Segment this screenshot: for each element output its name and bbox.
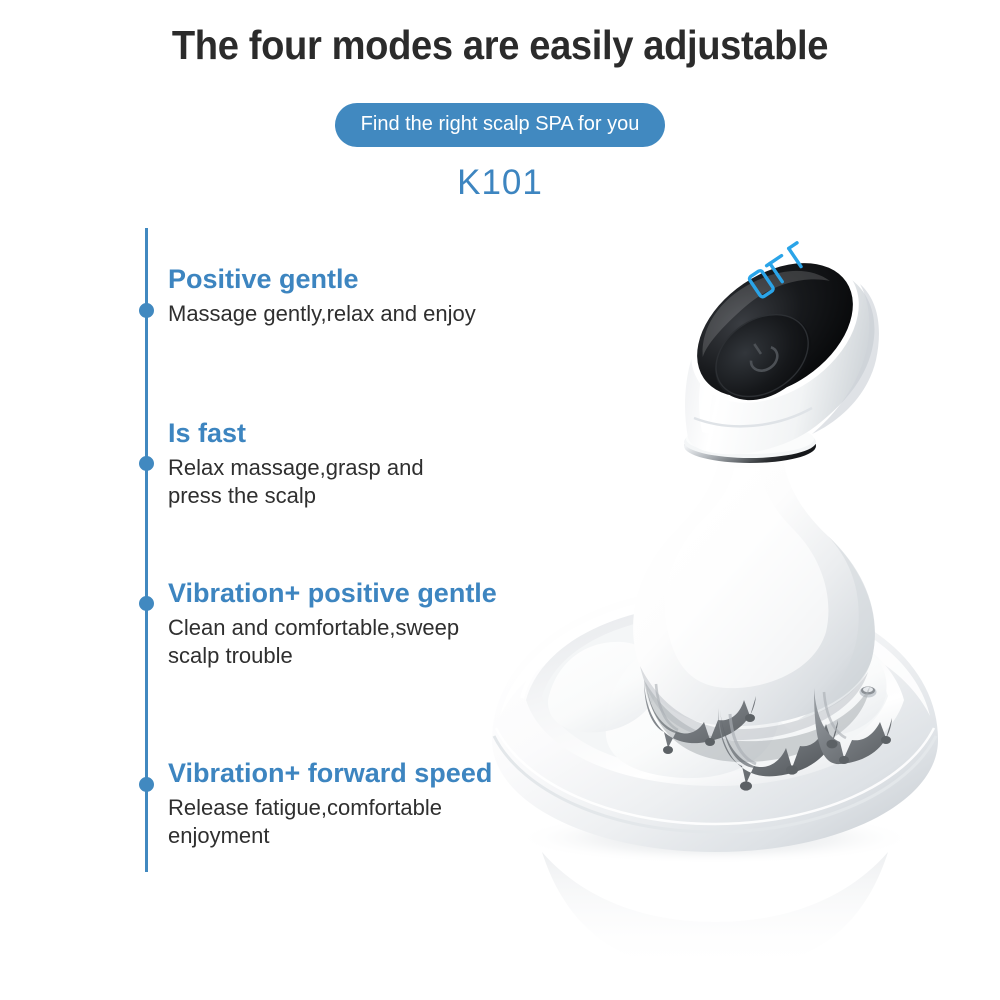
timeline-dot-icon [139,777,154,792]
feature-description-line: Release fatigue,comfortable [168,795,442,820]
feature-description-line: Relax massage,grasp and [168,455,424,480]
timeline-dot-icon [139,303,154,318]
timeline-dot-icon [139,596,154,611]
badge-container: Find the right scalp SPA for you [0,103,1000,147]
timeline-dot-icon [139,456,154,471]
product-reflection [542,852,888,972]
feature-description-line: Clean and comfortable,sweep [168,615,459,640]
timeline-axis [145,228,148,872]
page-title: The four modes are easily adjustable [35,22,965,69]
product-image [430,180,990,980]
status-badge: Find the right scalp SPA for you [335,103,666,147]
product-infographic: The four modes are easily adjustable Fin… [0,0,1000,1000]
